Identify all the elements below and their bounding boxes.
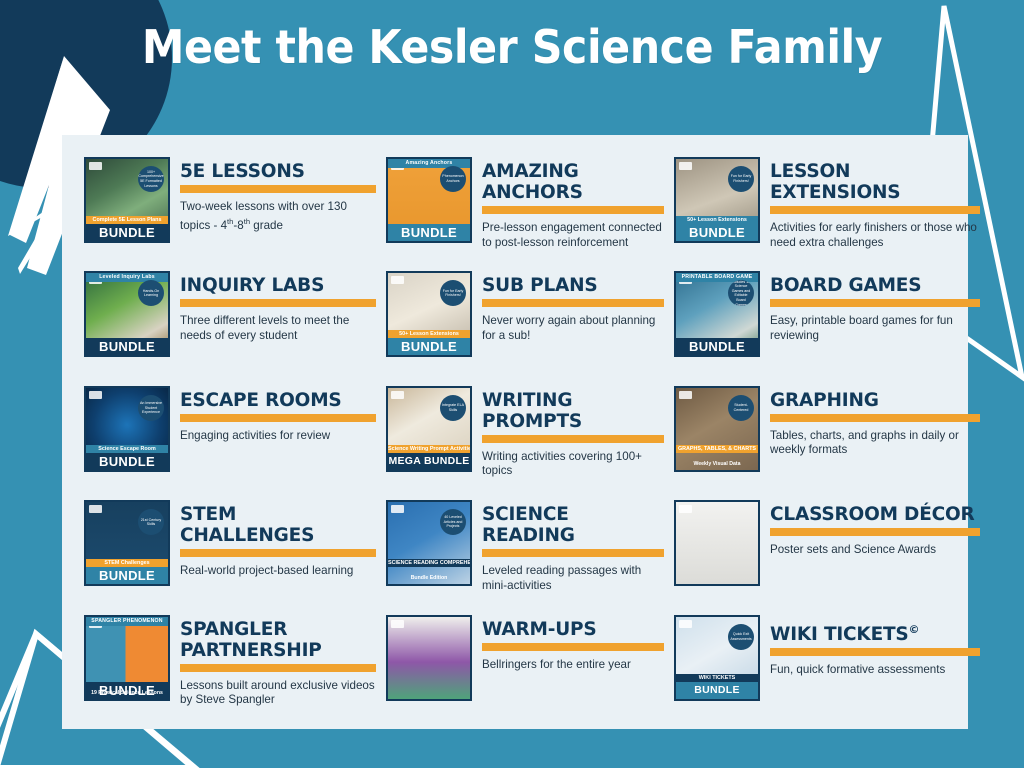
product-card[interactable]: Amazing Anchors Phenomenon Anchors BUNDL… (386, 157, 674, 271)
thumbnail-bundle-label: BUNDLE (86, 338, 168, 355)
product-card[interactable]: Student-Centered GRAPHS, TABLES, & CHART… (674, 386, 990, 500)
thumbnail-badge: Integrate ELA Skills (440, 395, 466, 421)
product-info: GRAPHING Tables, charts, and graphs in d… (770, 386, 980, 458)
product-title: WIKI TICKETS© (770, 619, 980, 645)
thumbnail-top-tag: SPANGLER PHENOMENON (86, 617, 168, 626)
thumbnail-badge: 100+ Comprehensive 5E Formatted Lessons (138, 166, 164, 192)
product-description: Poster sets and Science Awards (770, 543, 980, 558)
product-info: LESSON EXTENSIONS Activities for early f… (770, 157, 980, 250)
product-info: CLASSROOM DÉCOR Poster sets and Science … (770, 500, 980, 558)
product-thumbnail[interactable]: SPANGLER PHENOMENON BUNDLE 19 Physical S… (84, 615, 170, 701)
accent-rule (770, 206, 980, 214)
thumbnail-sub-tag: STEM Challenges (86, 559, 168, 567)
thumbnail-bundle-label: MEGA BUNDLE (388, 453, 470, 470)
product-title: STEM CHALLENGES (180, 504, 376, 546)
product-title: BOARD GAMES (770, 275, 980, 296)
kesler-logo-icon (89, 505, 102, 513)
product-card[interactable]: 100+ Comprehensive 5E Formatted Lessons … (84, 157, 386, 271)
thumbnail-bundle-label: BUNDLE (388, 224, 470, 241)
thumbnail-badge: Quick Exit Assessments (728, 624, 754, 650)
product-description: Bellringers for the entire year (482, 658, 664, 673)
product-description: Engaging activities for review (180, 429, 376, 444)
kesler-logo-icon (391, 391, 404, 399)
product-thumbnail[interactable]: 100+ Comprehensive 5E Formatted Lessons … (84, 157, 170, 243)
kesler-logo-icon (89, 391, 102, 399)
thumbnail-sub-line: Weekly Visual Data (676, 461, 758, 468)
thumbnail-badge: An Immersive Student Experience (138, 395, 164, 421)
product-card[interactable]: SPANGLER PHENOMENON BUNDLE 19 Physical S… (84, 615, 386, 729)
product-info: ESCAPE ROOMS Engaging activities for rev… (180, 386, 376, 444)
product-description: Two-week lessons with over 130 topics - … (180, 200, 376, 233)
accent-rule (482, 643, 664, 651)
product-card[interactable]: PRINTABLE BOARD GAME Includes 15 Science… (674, 271, 990, 385)
thumbnail-sub-tag: Complete 5E Lesson Plans (86, 216, 168, 224)
product-description: Leveled reading passages with mini-activ… (482, 564, 664, 593)
thumbnail-badge: Phenomenon Anchors (440, 166, 466, 192)
product-description: Tables, charts, and graphs in daily or w… (770, 429, 980, 458)
product-thumbnail[interactable]: Quick Exit Assessments WIKI TICKETS BUND… (674, 615, 760, 701)
product-description: Lessons built around exclusive videos by… (180, 679, 376, 708)
product-card[interactable]: Integrate ELA Skills Science Writing Pro… (386, 386, 674, 500)
product-thumbnail[interactable]: Fun for Early Finishers! 50+ Lesson Exte… (386, 271, 472, 357)
product-description: Real-world project-based learning (180, 564, 376, 579)
accent-rule (180, 664, 376, 672)
product-info: WIKI TICKETS© Fun, quick formative asses… (770, 615, 980, 678)
product-title: LESSON EXTENSIONS (770, 161, 980, 203)
product-description: Writing activities covering 100+ topics (482, 450, 664, 479)
thumbnail-sub-tag: GRAPHS, TABLES, & CHARTS (676, 445, 758, 453)
product-title: CLASSROOM DÉCOR (770, 504, 980, 525)
accent-rule (180, 414, 376, 422)
product-description: Fun, quick formative assessments (770, 663, 980, 678)
content-panel: 100+ Comprehensive 5E Formatted Lessons … (62, 135, 968, 729)
accent-rule (180, 185, 376, 193)
thumbnail-sub-tag: 50+ Lesson Extensions (676, 216, 758, 224)
product-info: 5E LESSONS Two-week lessons with over 13… (180, 157, 376, 233)
product-thumbnail[interactable] (674, 500, 760, 586)
kesler-logo-icon (89, 162, 102, 170)
product-title: GRAPHING (770, 390, 980, 411)
product-title: AMAZING ANCHORS (482, 161, 664, 203)
product-thumbnail[interactable]: 21st Century Skills STEM Challenges BUND… (84, 500, 170, 586)
product-info: INQUIRY LABS Three different levels to m… (180, 271, 376, 343)
product-info: SCIENCE READING Leveled reading passages… (482, 500, 664, 593)
kesler-logo-icon (391, 620, 404, 628)
product-info: SUB PLANS Never worry again about planni… (482, 271, 664, 343)
product-info: SPANGLER PARTNERSHIP Lessons built aroun… (180, 615, 376, 708)
thumbnail-sub-line: 19 Physical Science Lessons (86, 690, 168, 697)
accent-rule (482, 435, 664, 443)
product-thumbnail[interactable]: PRINTABLE BOARD GAME Includes 15 Science… (674, 271, 760, 357)
product-title: WRITING PROMPTS (482, 390, 664, 432)
thumbnail-badge: Fun for Early Finishers! (728, 166, 754, 192)
product-title: SCIENCE READING (482, 504, 664, 546)
product-title: INQUIRY LABS (180, 275, 376, 296)
product-thumbnail[interactable]: Amazing Anchors Phenomenon Anchors BUNDL… (386, 157, 472, 243)
product-info: WRITING PROMPTS Writing activities cover… (482, 386, 664, 479)
product-thumbnail[interactable]: Student-Centered GRAPHS, TABLES, & CHART… (674, 386, 760, 472)
product-card[interactable]: Leveled Inquiry Labs Hands-On Learning B… (84, 271, 386, 385)
kesler-logo-icon (679, 391, 692, 399)
product-description: Easy, printable board games for fun revi… (770, 314, 980, 343)
product-card[interactable]: CLASSROOM DÉCOR Poster sets and Science … (674, 500, 990, 614)
product-card[interactable]: Quick Exit Assessments WIKI TICKETS BUND… (674, 615, 990, 729)
page-title: Meet the Kesler Science Family (36, 20, 988, 74)
accent-rule (770, 414, 980, 422)
product-thumbnail[interactable] (386, 615, 472, 701)
product-title: WARM-UPS (482, 619, 664, 640)
product-card[interactable]: 40 Leveled Articles and Projects SCIENCE… (386, 500, 674, 614)
thumbnail-sub-tag: WIKI TICKETS (676, 674, 758, 682)
product-info: WARM-UPS Bellringers for the entire year (482, 615, 664, 673)
product-description: Pre-lesson engagement connected to post-… (482, 221, 664, 250)
product-info: STEM CHALLENGES Real-world project-based… (180, 500, 376, 579)
kesler-logo-icon (679, 505, 692, 513)
accent-rule (180, 549, 376, 557)
thumbnail-artwork (388, 617, 470, 699)
product-card[interactable]: WARM-UPS Bellringers for the entire year (386, 615, 674, 729)
product-info: AMAZING ANCHORS Pre-lesson engagement co… (482, 157, 664, 250)
product-thumbnail[interactable]: Leveled Inquiry Labs Hands-On Learning B… (84, 271, 170, 357)
thumbnail-artwork (676, 502, 758, 584)
product-description: Activities for early finishers or those … (770, 221, 980, 250)
thumbnail-bundle-label: BUNDLE (676, 224, 758, 241)
product-thumbnail[interactable]: Integrate ELA Skills Science Writing Pro… (386, 386, 472, 472)
accent-rule (482, 206, 664, 214)
thumbnail-badge: 21st Century Skills (138, 509, 164, 535)
thumbnail-sub-line: Bundle Edition (388, 575, 470, 582)
product-card[interactable]: Fun for Early Finishers! 50+ Lesson Exte… (674, 157, 990, 271)
thumbnail-bundle-label: BUNDLE (388, 338, 470, 355)
kesler-logo-icon (679, 620, 692, 628)
product-title: ESCAPE ROOMS (180, 390, 376, 411)
product-card[interactable]: 21st Century Skills STEM Challenges BUND… (84, 500, 386, 614)
thumbnail-sub-tag: Science Writing Prompt Activities (388, 445, 470, 453)
thumbnail-bundle-label: BUNDLE (86, 567, 168, 584)
accent-rule (482, 299, 664, 307)
product-thumbnail[interactable]: An Immersive Student Experience Science … (84, 386, 170, 472)
thumbnail-badge: 40 Leveled Articles and Projects (440, 509, 466, 535)
product-card[interactable]: An Immersive Student Experience Science … (84, 386, 386, 500)
kesler-logo-icon (391, 505, 404, 513)
product-title: SPANGLER PARTNERSHIP (180, 619, 376, 661)
thumbnail-sub-tag: Science Escape Room (86, 445, 168, 453)
product-thumbnail[interactable]: 40 Leveled Articles and Projects SCIENCE… (386, 500, 472, 586)
thumbnail-badge: Student-Centered (728, 395, 754, 421)
product-card[interactable]: Fun for Early Finishers! 50+ Lesson Exte… (386, 271, 674, 385)
product-info: BOARD GAMES Easy, printable board games … (770, 271, 980, 343)
product-title: 5E LESSONS (180, 161, 376, 182)
accent-rule (770, 299, 980, 307)
thumbnail-sub-tag: 50+ Lesson Extensions (388, 330, 470, 338)
product-description: Never worry again about planning for a s… (482, 314, 664, 343)
thumbnail-bundle-label: BUNDLE (676, 338, 758, 355)
product-grid: 100+ Comprehensive 5E Formatted Lessons … (62, 135, 968, 729)
accent-rule (482, 549, 664, 557)
thumbnail-bundle-label: BUNDLE (86, 453, 168, 470)
thumbnail-sub-tag: SCIENCE READING COMPREHENSION (388, 559, 470, 567)
product-thumbnail[interactable]: Fun for Early Finishers! 50+ Lesson Exte… (674, 157, 760, 243)
product-description: Three different levels to meet the needs… (180, 314, 376, 343)
thumbnail-bundle-label: BUNDLE (676, 682, 758, 699)
product-title: SUB PLANS (482, 275, 664, 296)
accent-rule (770, 648, 980, 656)
kesler-logo-icon (679, 162, 692, 170)
accent-rule (180, 299, 376, 307)
kesler-logo-icon (391, 276, 404, 284)
thumbnail-bundle-label: BUNDLE (86, 224, 168, 241)
accent-rule (770, 528, 980, 536)
